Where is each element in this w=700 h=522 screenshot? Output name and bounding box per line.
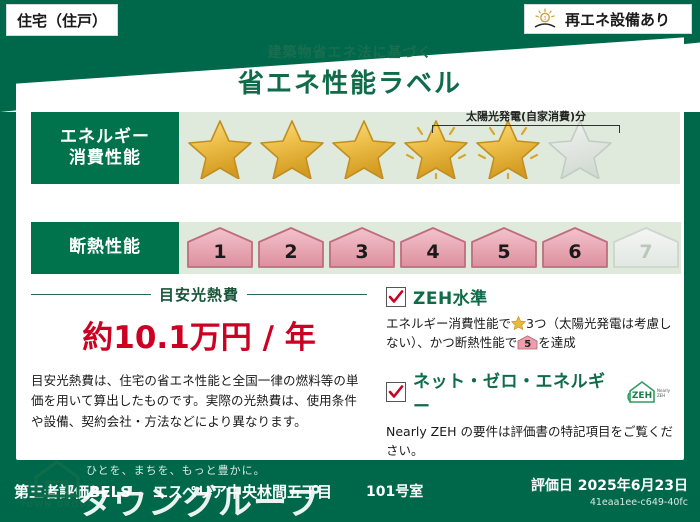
insulation-grades: 1234567 [179, 222, 681, 274]
star-filled [257, 117, 327, 179]
estimated-utility-cost-title: 目安光熱費 [159, 284, 239, 305]
heading-rule-right [247, 294, 367, 296]
zeh-house-logo-icon: ZEH Nearly ZEH [626, 379, 678, 405]
insulation-grade-filled: 5 [469, 226, 539, 270]
zeh-standard-body: エネルギー消費性能で3つ（太陽光発電は考慮しない）、かつ断熱性能で5を達成 [386, 314, 678, 353]
insulation-grade-number: 2 [256, 241, 326, 263]
solar-allocation-note: 太陽光発電(自家消費)分 [432, 108, 620, 133]
insulation-grade-number: 1 [185, 241, 255, 263]
energy-consumption-label-line1: エネルギー [60, 127, 150, 148]
inline-grade-badge-icon: 5 [517, 335, 538, 350]
footer-evaluation-date: 評価日 2025年6月23日 [531, 478, 688, 494]
label-title: 建築物省エネ法に基づく 省エネ性能ラベル [0, 42, 700, 100]
sun-icon: 3 [531, 8, 559, 30]
net-zero-energy-body: Nearly ZEH の要件は評価書の特記項目をご覧ください。 [386, 422, 678, 461]
zeh-standard-body-post: を達成 [538, 335, 576, 350]
footer-evaluation-info: 評価日 2025年6月23日 41eaa1ee-c649-40fc [531, 475, 688, 508]
insulation-label: 断熱性能 [31, 222, 179, 274]
footer-bels-label: 第三者評価BELS [14, 481, 131, 502]
estimated-utility-cost-value: 約10.1万円 / 年 [31, 312, 367, 357]
insulation-grade-number: 5 [469, 241, 539, 263]
check-icon [386, 382, 406, 402]
insulation-label-text: 断熱性能 [69, 237, 141, 258]
zeh-standard-item: ZEH水準 エネルギー消費性能で3つ（太陽光発電は考慮しない）、かつ断熱性能で5… [386, 284, 678, 353]
renewable-equipment-label: 再エネ設備あり [565, 9, 670, 30]
insulation-grade-number: 6 [540, 241, 610, 263]
insulation-grade-number: 4 [398, 241, 468, 263]
zeh-standard-title: ZEH水準 [413, 284, 488, 309]
svg-text:ZEH: ZEH [632, 391, 652, 401]
zeh-criteria-column: ZEH水準 エネルギー消費性能で3つ（太陽光発電は考慮しない）、かつ断熱性能で5… [386, 284, 678, 475]
zeh-standard-body-pre: エネルギー消費性能で [386, 316, 511, 331]
net-zero-energy-item: ネット・ゼロ・エネルギー ZEH Nearly ZEH Nearly ZEH の… [386, 367, 678, 461]
energy-consumption-label-line2: 消費性能 [69, 148, 141, 169]
check-icon [386, 287, 406, 307]
star-filled [185, 117, 255, 179]
footer-property-name: エスペリア中央林間五丁目 [153, 481, 332, 502]
energy-performance-label: 住宅（住戸） 3 再エネ設備あり 建築物省エネ法に基づく 省エネ性能ラベル [0, 0, 700, 522]
inline-star-icon [511, 316, 526, 330]
estimated-utility-cost-block: 目安光熱費 約10.1万円 / 年 目安光熱費は、住宅の省エネ性能と全国一律の燃… [31, 284, 367, 432]
insulation-grade-filled: 4 [398, 226, 468, 270]
inline-grade-badge-number: 5 [517, 337, 538, 353]
heading-rule-left [31, 294, 151, 296]
insulation-grade-filled: 6 [540, 226, 610, 270]
solar-allocation-caption: 太陽光発電(自家消費)分 [432, 108, 620, 124]
estimated-utility-cost-heading: 目安光熱費 [31, 284, 367, 305]
solar-allocation-bracket [432, 125, 620, 133]
insulation-grade-number: 3 [327, 241, 397, 263]
title-main: 省エネ性能ラベル [0, 63, 700, 100]
energy-consumption-label: エネルギー 消費性能 [31, 112, 179, 184]
insulation-grade-filled: 3 [327, 226, 397, 270]
net-zero-energy-heading: ネット・ゼロ・エネルギー ZEH Nearly ZEH [386, 367, 678, 417]
insulation-grade-list: 1234567 [185, 226, 681, 270]
estimated-utility-cost-note: 目安光熱費は、住宅の省エネ性能と全国一律の燃料等の単価を用いて算出したものです。… [31, 371, 367, 432]
label-footer: 第三者評価BELS エスペリア中央林間五丁目 101号室 評価日 2025年6月… [0, 460, 700, 522]
footer-evaluation-id: 41eaa1ee-c649-40fc [531, 497, 688, 508]
svg-text:3: 3 [543, 16, 546, 22]
building-type-badge: 住宅（住戸） [6, 4, 118, 36]
zeh-standard-heading: ZEH水準 [386, 284, 678, 309]
svg-text:ZEH: ZEH [657, 393, 665, 398]
title-subtitle: 建築物省エネ法に基づく [0, 42, 700, 62]
insulation-grade-empty: 7 [611, 226, 681, 270]
insulation-row: 断熱性能 1234567 [31, 222, 680, 274]
renewable-equipment-badge: 3 再エネ設備あり [524, 4, 692, 34]
footer-room-number: 101号室 [366, 481, 423, 501]
star-filled [329, 117, 399, 179]
insulation-grade-number: 7 [611, 241, 681, 263]
net-zero-energy-title: ネット・ゼロ・エネルギー [413, 367, 619, 417]
insulation-grade-filled: 2 [256, 226, 326, 270]
insulation-grade-filled: 1 [185, 226, 255, 270]
building-type-label: 住宅（住戸） [17, 10, 107, 31]
